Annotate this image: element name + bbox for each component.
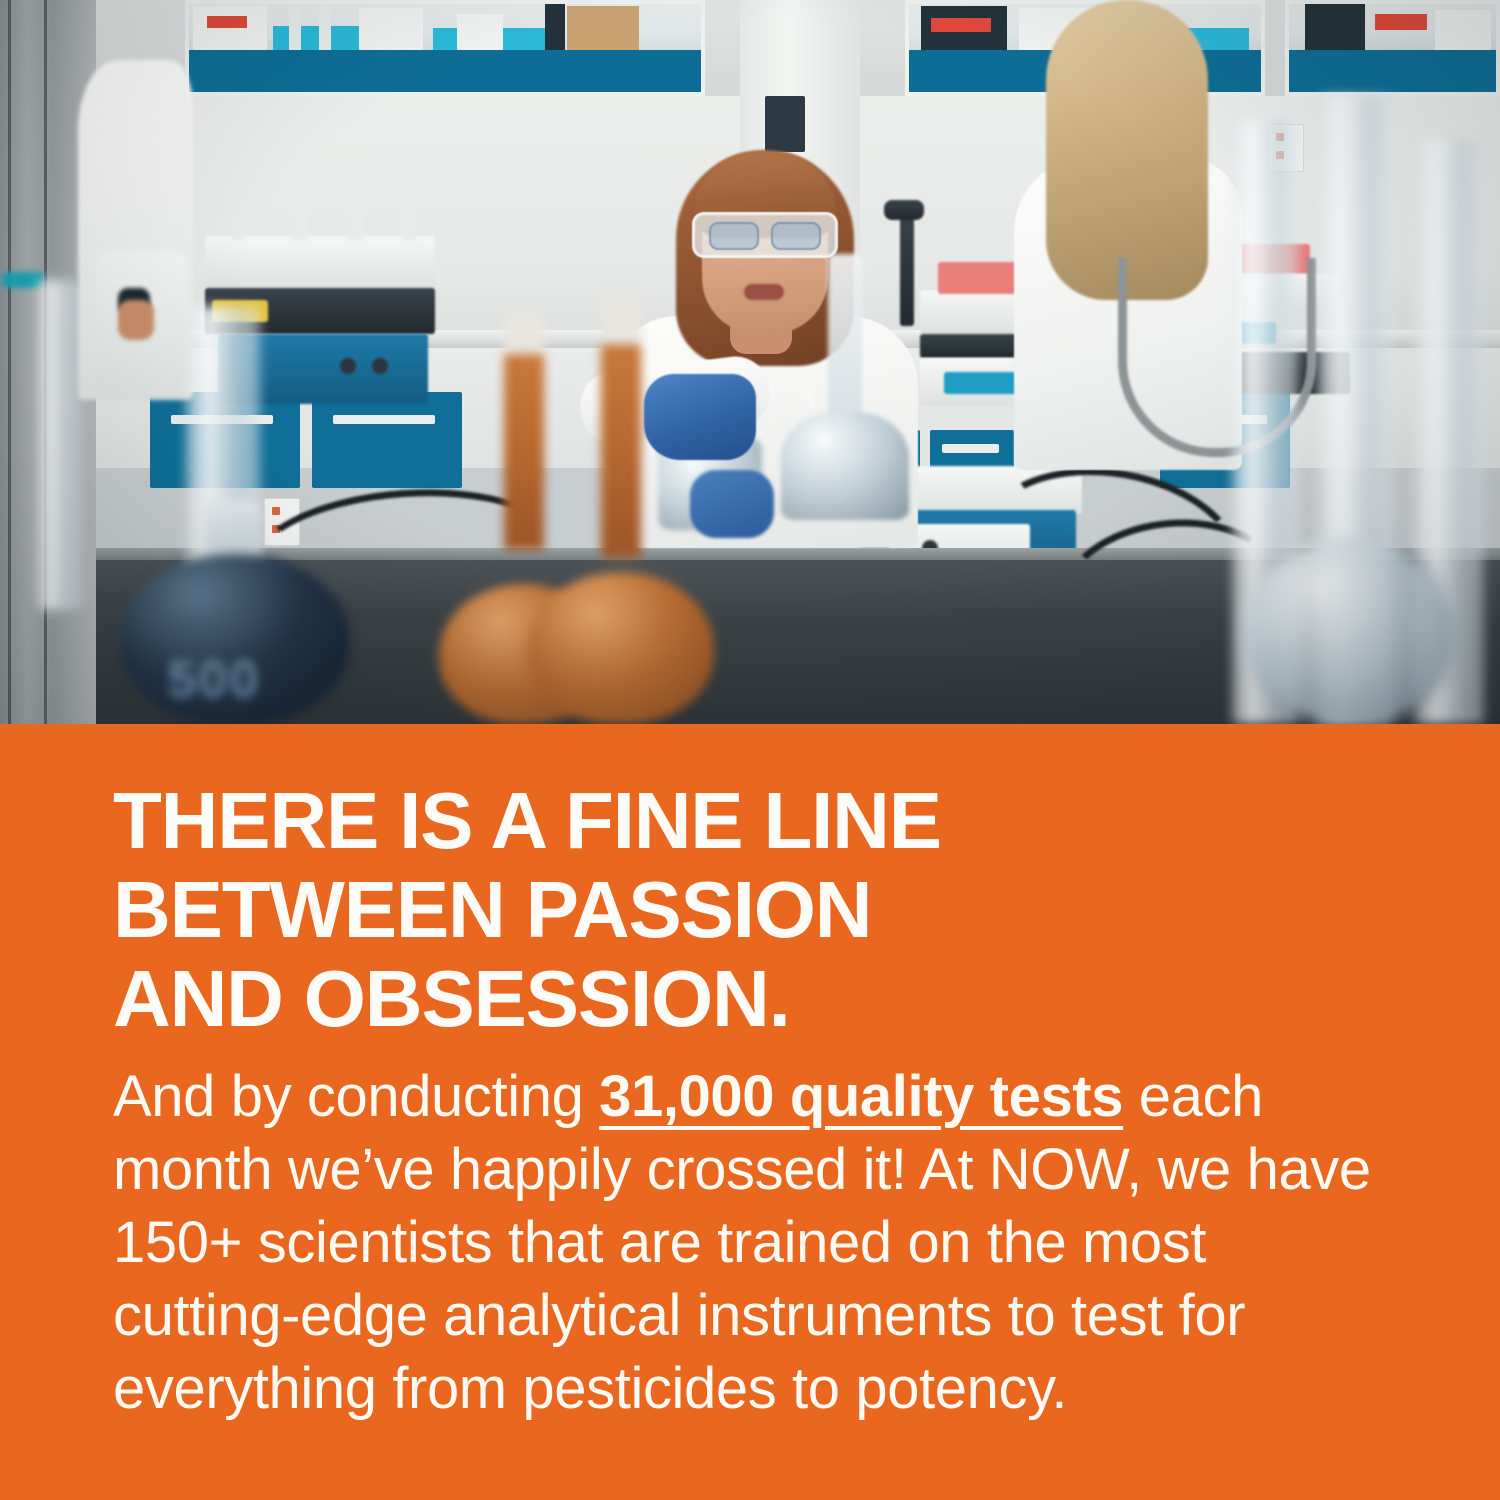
flask-body: [528, 572, 714, 724]
flask-volume-label: 500: [144, 650, 284, 710]
graduated-cylinder: [36, 280, 82, 610]
blonde-scientist: [1000, 0, 1260, 470]
lab-photo: 500: [0, 0, 1500, 724]
quality-tests-stat: 31,000 quality tests: [599, 1064, 1123, 1129]
headline: THERE IS A FINE LINE BETWEEN PASSION AND…: [113, 776, 1413, 1043]
supply-label: [1375, 14, 1427, 30]
supply-label: [207, 16, 247, 28]
test-tube: [292, 172, 307, 240]
volumetric-flask-500ml: 500: [120, 500, 350, 724]
erlenmeyer-flask: [770, 254, 920, 520]
cabinet-blue-band: [1289, 50, 1496, 92]
test-tube: [348, 176, 363, 240]
hair: [1046, 0, 1208, 300]
supply-box: [193, 6, 267, 52]
wall-cabinet-left: [185, 0, 705, 96]
instrument-knob: [372, 358, 388, 374]
flask-body: [781, 412, 909, 520]
cabinet-shelf-contents: [189, 4, 701, 56]
foreground-flask: [1240, 430, 1460, 724]
tube: [289, 4, 301, 56]
background-technician: [78, 60, 193, 400]
supply-box: [457, 14, 503, 54]
flask-body: [1245, 538, 1455, 724]
instrument-platform: [205, 236, 435, 288]
supply-box-dark: [1305, 4, 1365, 56]
body-copy: And by conducting 31,000 quality tests e…: [113, 1060, 1383, 1425]
supply-label: [931, 18, 991, 32]
cabinet-blue-band: [189, 50, 701, 92]
supply-box: [359, 8, 423, 52]
orange-content-panel: THERE IS A FINE LINE BETWEEN PASSION AND…: [0, 724, 1500, 1500]
technician-hand: [118, 300, 154, 340]
blue-nitrile-glove: [644, 374, 756, 460]
body-text-before: And by conducting: [113, 1064, 599, 1129]
poster-root: 500 THERE IS A FINE LINE BETWEEN PASSION…: [0, 0, 1500, 1500]
cabinet-shelf-contents: [1289, 4, 1496, 56]
wall-cabinet-far-right: [1285, 0, 1500, 96]
blue-nitrile-glove-second: [690, 470, 774, 538]
flask-neck: [601, 296, 641, 558]
goggle-lens: [771, 222, 821, 250]
safety-goggles: [692, 212, 838, 258]
cardboard-box: [567, 6, 639, 56]
test-tube: [232, 176, 245, 240]
supply-box: [1435, 10, 1491, 54]
test-tube: [402, 172, 417, 240]
supply-box-dark: [545, 4, 565, 56]
tube: [319, 4, 331, 56]
instrument-knob: [340, 358, 356, 374]
goggle-lens: [709, 222, 759, 250]
